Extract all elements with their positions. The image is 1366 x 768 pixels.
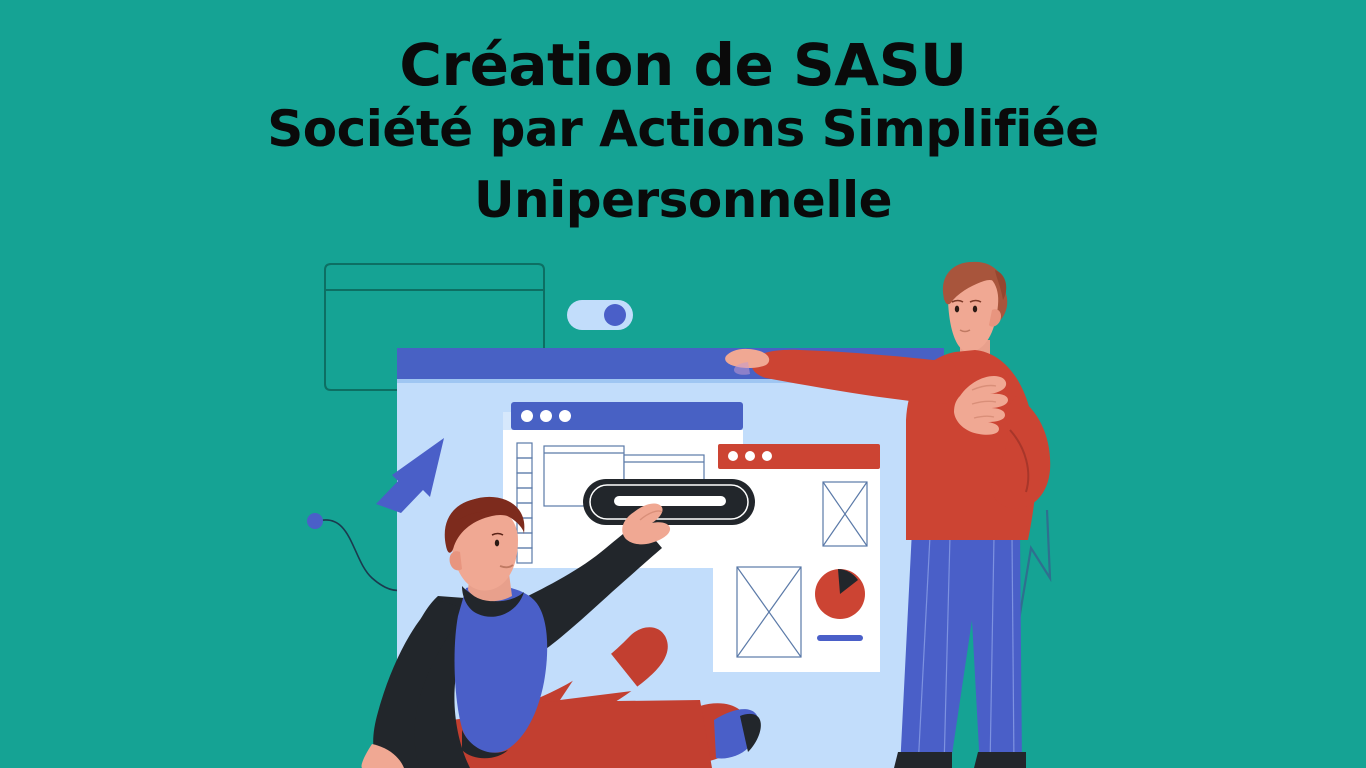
window-dot-icon <box>521 410 533 422</box>
window-dot-icon <box>559 410 571 422</box>
window-dot-icon <box>762 451 772 461</box>
window-dot-icon <box>540 410 552 422</box>
progress-bar <box>817 635 863 641</box>
window-dot-icon <box>728 451 738 461</box>
pie-chart-red <box>815 569 865 619</box>
toggle-switch-on[interactable] <box>567 300 633 330</box>
title-block: Création de SASU Société par Actions Sim… <box>0 36 1366 236</box>
page-subtitle: Société par Actions Simplifiée Uniperson… <box>243 94 1123 236</box>
browser-window-red <box>713 444 880 672</box>
poster-canvas: Création de SASU Société par Actions Sim… <box>0 0 1366 768</box>
dark-search-pill[interactable] <box>583 479 755 525</box>
window-dot-icon <box>745 451 755 461</box>
page-title: Création de SASU <box>0 36 1366 94</box>
